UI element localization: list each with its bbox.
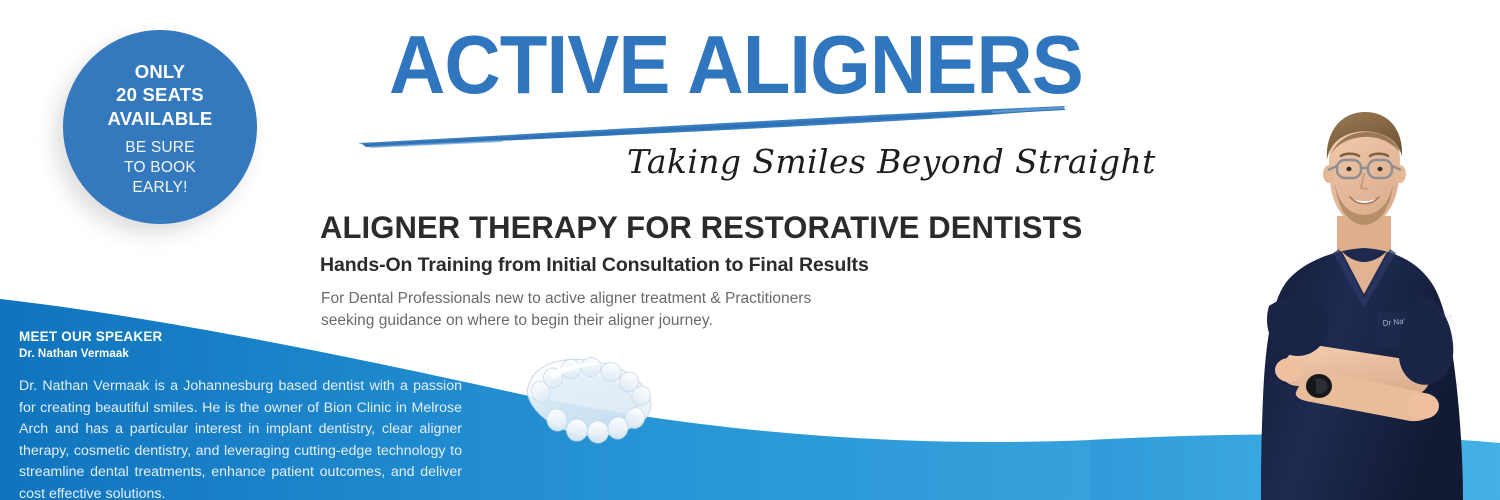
badge-circle: ONLY 20 SEATS AVAILABLE BE SURE TO BOOK … — [63, 30, 257, 224]
badge-line-4: BE SURE — [124, 138, 196, 158]
seats-badge: ONLY 20 SEATS AVAILABLE BE SURE TO BOOK … — [63, 30, 257, 224]
brand-title: ACTIVE ALIGNERS — [389, 23, 1083, 106]
brand-tagline: Taking Smiles Beyond Straight Teeth Taki… — [627, 133, 1167, 189]
tagline-label: Taking Smiles Beyond Straight Teeth — [627, 142, 1167, 181]
lead-paragraph: For Dental Professionals new to active a… — [321, 288, 941, 333]
promotional-banner: ONLY 20 SEATS AVAILABLE BE SURE TO BOOK … — [0, 0, 1500, 500]
badge-line-6: EARLY! — [124, 178, 196, 198]
page-title: ALIGNER THERAPY FOR RESTORATIVE DENTISTS — [320, 209, 1082, 246]
badge-line-3: AVAILABLE — [108, 107, 213, 130]
page-subtitle: Hands-On Training from Initial Consultat… — [320, 254, 869, 277]
speaker-name: Dr. Nathan Vermaak — [19, 348, 464, 362]
speaker-bio: Dr. Nathan Vermaak is a Johannesburg bas… — [19, 376, 462, 500]
doctor-portrait: Dr Nathan Vermaak — [1225, 98, 1500, 500]
badge-line-5: TO BOOK — [124, 158, 196, 178]
clear-aligner-tray-icon — [505, 348, 690, 483]
badge-subtext: BE SURE TO BOOK EARLY! — [124, 138, 196, 198]
lead-line-1: For Dental Professionals new to active a… — [321, 288, 941, 310]
badge-line-1: ONLY — [108, 60, 213, 83]
badge-line-2: 20 SEATS — [108, 83, 213, 106]
speaker-block: MEET OUR SPEAKER Dr. Nathan Vermaak Dr. … — [19, 329, 464, 500]
badge-headline: ONLY 20 SEATS AVAILABLE — [108, 60, 213, 130]
speaker-eyebrow: MEET OUR SPEAKER — [19, 329, 464, 345]
